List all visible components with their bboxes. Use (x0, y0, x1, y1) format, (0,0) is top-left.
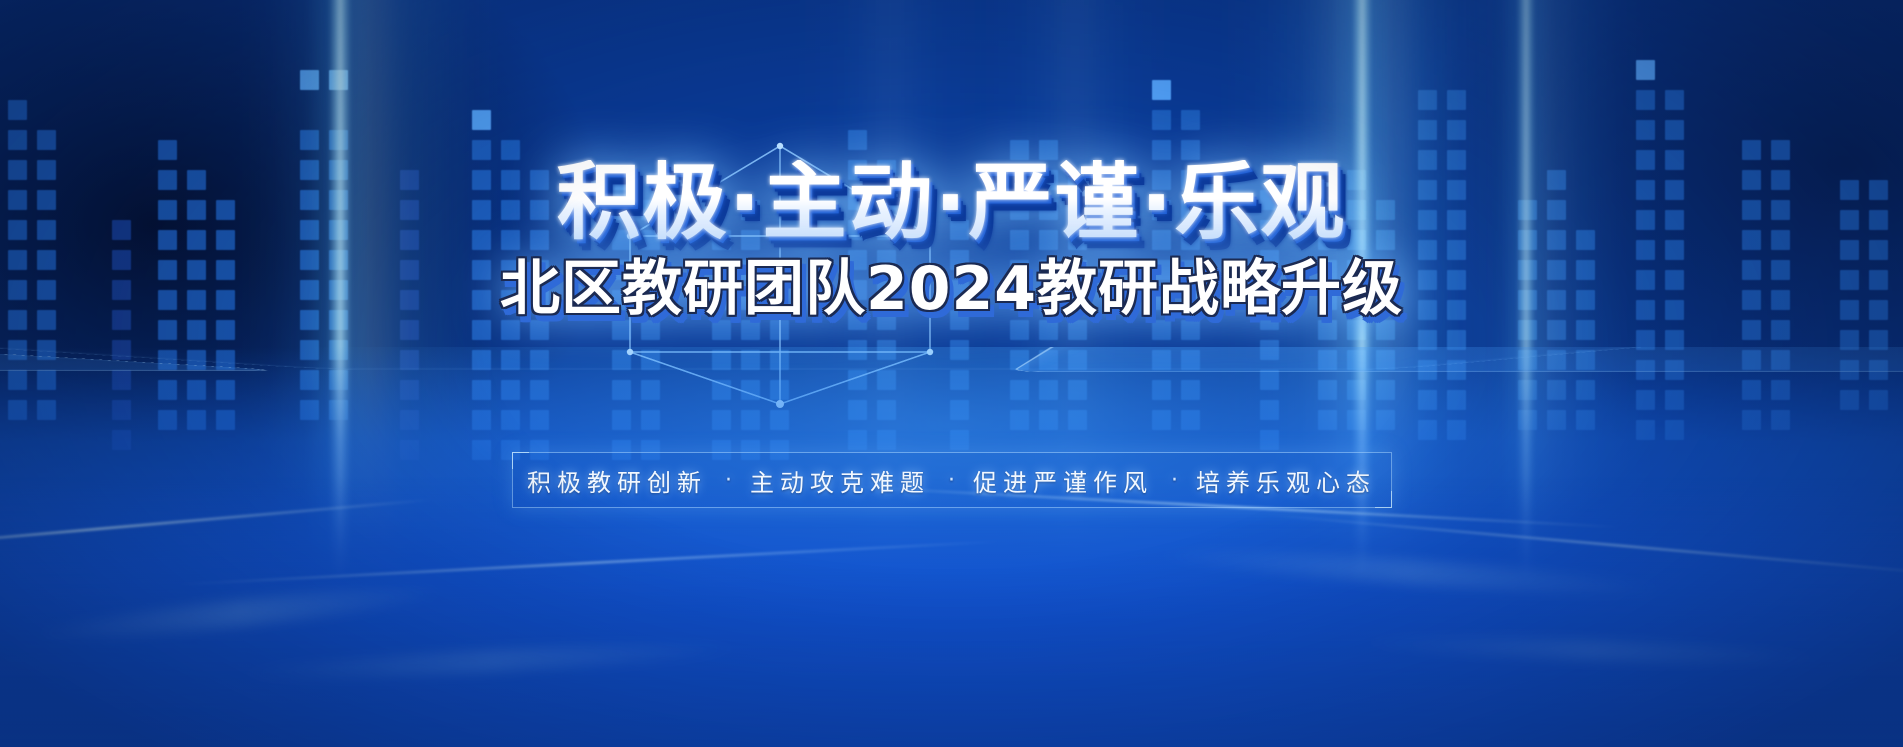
tagline-list: 积极教研创新 · 主动攻克难题 · 促进严谨作风 · 培养乐观心态 (512, 452, 1392, 508)
tagline-panel: 积极教研创新 · 主动攻克难题 · 促进严谨作风 · 培养乐观心态 (512, 452, 1392, 508)
perspective-tile-floor (0, 347, 1903, 747)
tagline-item-3: 促进严谨作风 (969, 463, 1157, 498)
page-title: 积极·主动·严谨·乐观 (557, 160, 1347, 244)
banner-text-block: 积极·主动·严谨·乐观 北区教研团队2024教研战略升级 (0, 160, 1903, 321)
tagline-separator-icon: · (934, 468, 969, 493)
tagline-item-1: 积极教研创新 (523, 463, 711, 498)
banner-root: 积极·主动·严谨·乐观 北区教研团队2024教研战略升级 积极教研创新 · 主动… (0, 0, 1903, 747)
tagline-item-4: 培养乐观心态 (1192, 463, 1380, 498)
tagline-separator-icon: · (1157, 468, 1192, 493)
tagline-separator-icon: · (711, 468, 746, 493)
page-subtitle: 北区教研团队2024教研战略升级 (500, 258, 1403, 321)
tagline-item-2: 主动攻克难题 (746, 463, 934, 498)
